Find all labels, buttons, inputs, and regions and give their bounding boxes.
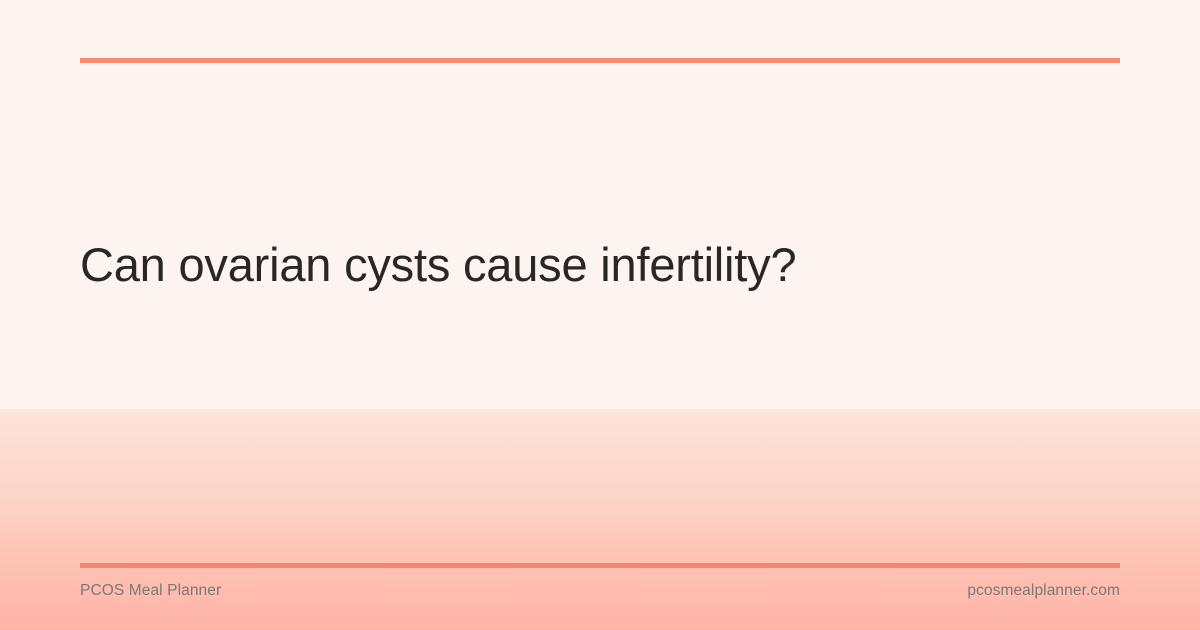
article-card: Can ovarian cysts cause infertility? PCO… (0, 0, 1200, 630)
top-accent-rule (80, 58, 1120, 63)
footer-domain-label: pcosmealplanner.com (967, 582, 1120, 600)
footer: PCOS Meal Planner pcosmealplanner.com (80, 578, 1120, 604)
footer-accent-rule (80, 563, 1120, 568)
page-title: Can ovarian cysts cause infertility? (80, 235, 796, 295)
footer-brand-label: PCOS Meal Planner (80, 582, 221, 600)
headline-container: Can ovarian cysts cause infertility? (80, 120, 1120, 410)
